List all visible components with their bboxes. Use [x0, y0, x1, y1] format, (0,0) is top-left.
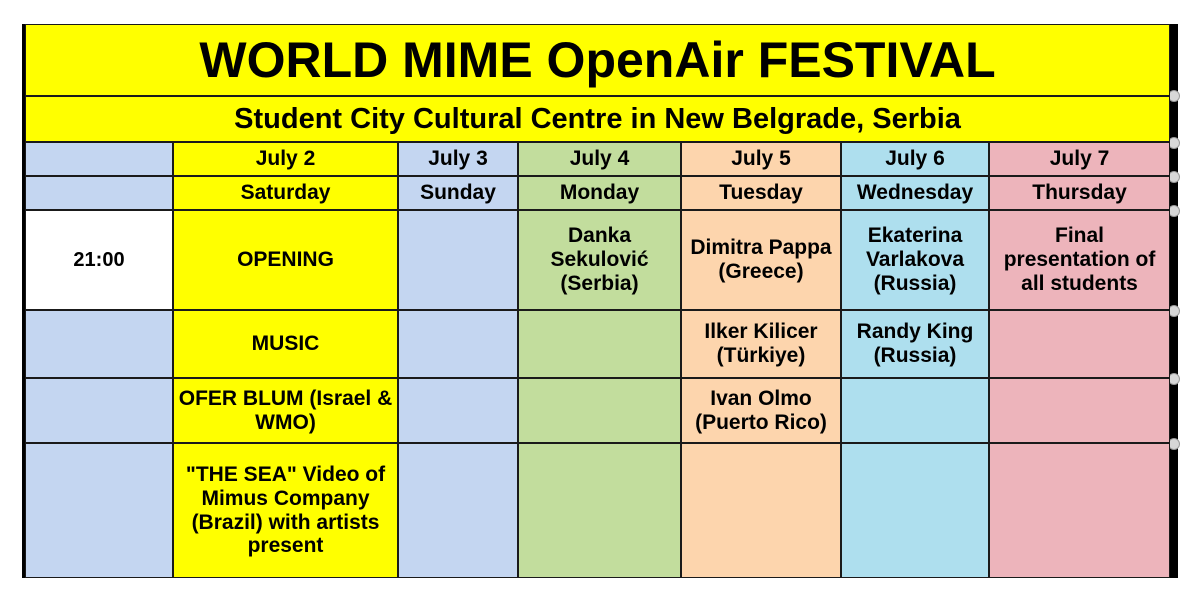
page-subtitle: Student City Cultural Centre in New Belg… [25, 96, 1170, 142]
page-title: WORLD MIME OpenAir FESTIVAL [25, 24, 1170, 96]
table-row-dates: July 2 July 3 July 4 July 5 July 6 July … [25, 142, 1170, 176]
festival-schedule-poster: WORLD MIME OpenAir FESTIVAL Student City… [0, 0, 1200, 607]
time-label-sea [25, 443, 173, 578]
event-july4-music [518, 310, 681, 378]
event-july2-music: MUSIC [173, 310, 398, 378]
day-header-july2: Saturday [173, 176, 398, 210]
table-row-music: MUSIC Ilker Kilicer (Türkiye) Randy King… [25, 310, 1170, 378]
table-row-ofer-blum: OFER BLUM (Israel & WMO) Ivan Olmo (Puer… [25, 378, 1170, 443]
time-label-music [25, 310, 173, 378]
date-header-july3: July 3 [398, 142, 518, 176]
date-header-july5: July 5 [681, 142, 841, 176]
date-header-corner [25, 142, 173, 176]
event-july6-music: Randy King (Russia) [841, 310, 989, 378]
event-july3-2100 [398, 210, 518, 310]
day-header-july5: Tuesday [681, 176, 841, 210]
day-header-july3: Sunday [398, 176, 518, 210]
day-header-july4: Monday [518, 176, 681, 210]
time-label-2100: 21:00 [25, 210, 173, 310]
table-row-weekdays: Saturday Sunday Monday Tuesday Wednesday… [25, 176, 1170, 210]
schedule-table: WORLD MIME OpenAir FESTIVAL Student City… [25, 24, 1170, 578]
table-row-2100: 21:00 OPENING Danka Sekulović (Serbia) D… [25, 210, 1170, 310]
event-july7-2100: Final presentation of all students [989, 210, 1170, 310]
title-row: WORLD MIME OpenAir FESTIVAL [25, 24, 1170, 96]
day-header-corner [25, 176, 173, 210]
event-july2-ofer: OFER BLUM (Israel & WMO) [173, 378, 398, 443]
table-row-the-sea: "THE SEA" Video of Mimus Company (Brazil… [25, 443, 1170, 578]
event-july4-2100: Danka Sekulović (Serbia) [518, 210, 681, 310]
date-header-july2: July 2 [173, 142, 398, 176]
event-july2-2100: OPENING [173, 210, 398, 310]
event-july5-ofer: Ivan Olmo (Puerto Rico) [681, 378, 841, 443]
event-july5-sea [681, 443, 841, 578]
day-header-july6: Wednesday [841, 176, 989, 210]
event-july3-music [398, 310, 518, 378]
date-header-july4: July 4 [518, 142, 681, 176]
event-july2-sea: "THE SEA" Video of Mimus Company (Brazil… [173, 443, 398, 578]
subtitle-row: Student City Cultural Centre in New Belg… [25, 96, 1170, 142]
date-header-july6: July 6 [841, 142, 989, 176]
time-label-ofer [25, 378, 173, 443]
event-july5-music: Ilker Kilicer (Türkiye) [681, 310, 841, 378]
table-right-border [1170, 24, 1178, 578]
event-july7-ofer [989, 378, 1170, 443]
event-july4-ofer [518, 378, 681, 443]
event-july3-sea [398, 443, 518, 578]
day-header-july7: Thursday [989, 176, 1170, 210]
event-july4-sea [518, 443, 681, 578]
event-july5-2100: Dimitra Pappa (Greece) [681, 210, 841, 310]
event-july3-ofer [398, 378, 518, 443]
event-july7-sea [989, 443, 1170, 578]
event-july6-ofer [841, 378, 989, 443]
event-july6-sea [841, 443, 989, 578]
event-july7-music [989, 310, 1170, 378]
event-july6-2100: Ekaterina Varlakova (Russia) [841, 210, 989, 310]
date-header-july7: July 7 [989, 142, 1170, 176]
